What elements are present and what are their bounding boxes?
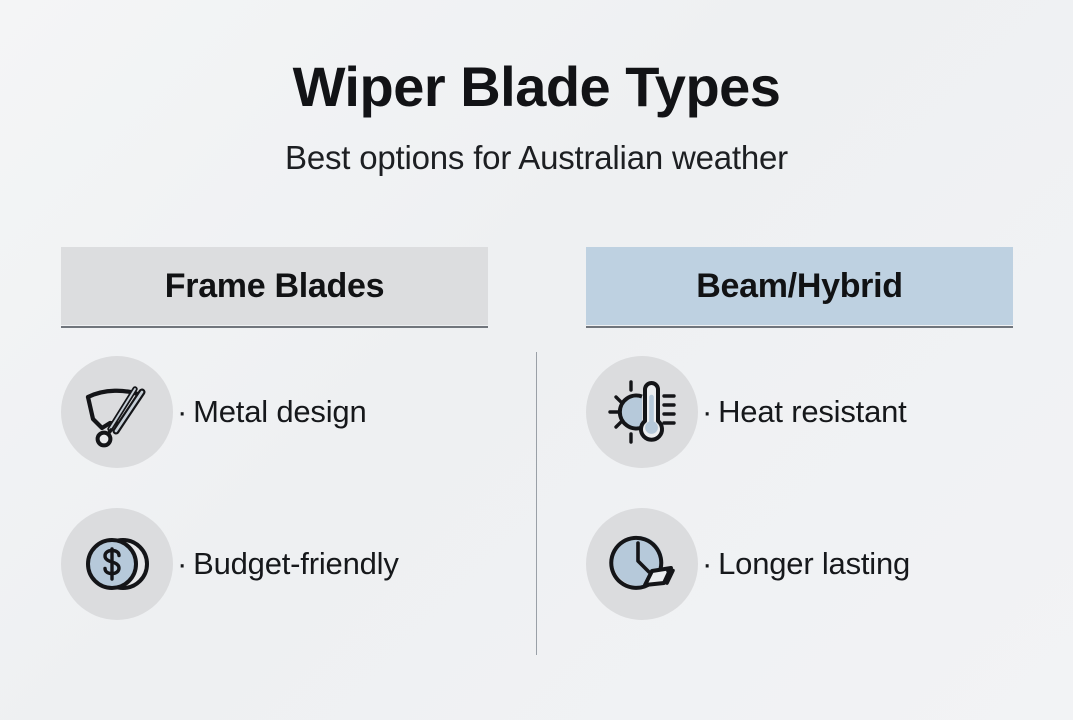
page-subtitle: Best options for Australian weather <box>0 117 1073 177</box>
bullet-icon: · <box>177 546 187 582</box>
column-header-frame-blades: Frame Blades <box>61 247 488 325</box>
feature-list-frame-blades: ·Metal design <box>61 356 488 620</box>
feature-label-wrap: ·Metal design <box>177 394 367 430</box>
column-header-underline <box>586 326 1013 328</box>
column-header-beam-hybrid: Beam/Hybrid <box>586 247 1013 325</box>
feature-item: ·Budget-friendly <box>61 508 488 620</box>
bullet-icon: · <box>702 546 712 582</box>
feature-label-wrap: ·Longer lasting <box>702 546 910 582</box>
column-header-label: Beam/Hybrid <box>696 267 902 306</box>
feature-list-beam-hybrid: ·Heat resistant <box>586 356 1013 620</box>
infographic-page: Wiper Blade Types Best options for Austr… <box>0 0 1073 720</box>
icon-badge <box>586 356 698 468</box>
feature-label: Heat resistant <box>718 394 906 429</box>
feature-label: Budget-friendly <box>193 546 399 581</box>
column-beam-hybrid: Beam/Hybrid <box>586 247 1013 660</box>
column-frame-blades: Frame Blades <box>61 247 488 660</box>
icon-badge <box>61 356 173 468</box>
feature-label-wrap: ·Budget-friendly <box>177 546 399 582</box>
columns-container: Frame Blades <box>0 247 1073 677</box>
feature-item: ·Heat resistant <box>586 356 1013 468</box>
header-block: Wiper Blade Types Best options for Austr… <box>0 58 1073 177</box>
feature-label: Metal design <box>193 394 366 429</box>
wiper-blade-icon <box>80 375 154 449</box>
page-title: Wiper Blade Types <box>0 58 1073 117</box>
sun-thermometer-icon <box>605 375 679 449</box>
feature-item: ·Longer lasting <box>586 508 1013 620</box>
icon-badge <box>586 508 698 620</box>
clock-blade-icon <box>605 527 679 601</box>
icon-badge <box>61 508 173 620</box>
feature-item: ·Metal design <box>61 356 488 468</box>
feature-label-wrap: ·Heat resistant <box>702 394 907 430</box>
feature-label: Longer lasting <box>718 546 910 581</box>
column-header-underline <box>61 326 488 328</box>
bullet-icon: · <box>702 394 712 430</box>
column-header-label: Frame Blades <box>165 267 384 306</box>
bullet-icon: · <box>177 394 187 430</box>
coin-dollar-icon <box>80 527 154 601</box>
